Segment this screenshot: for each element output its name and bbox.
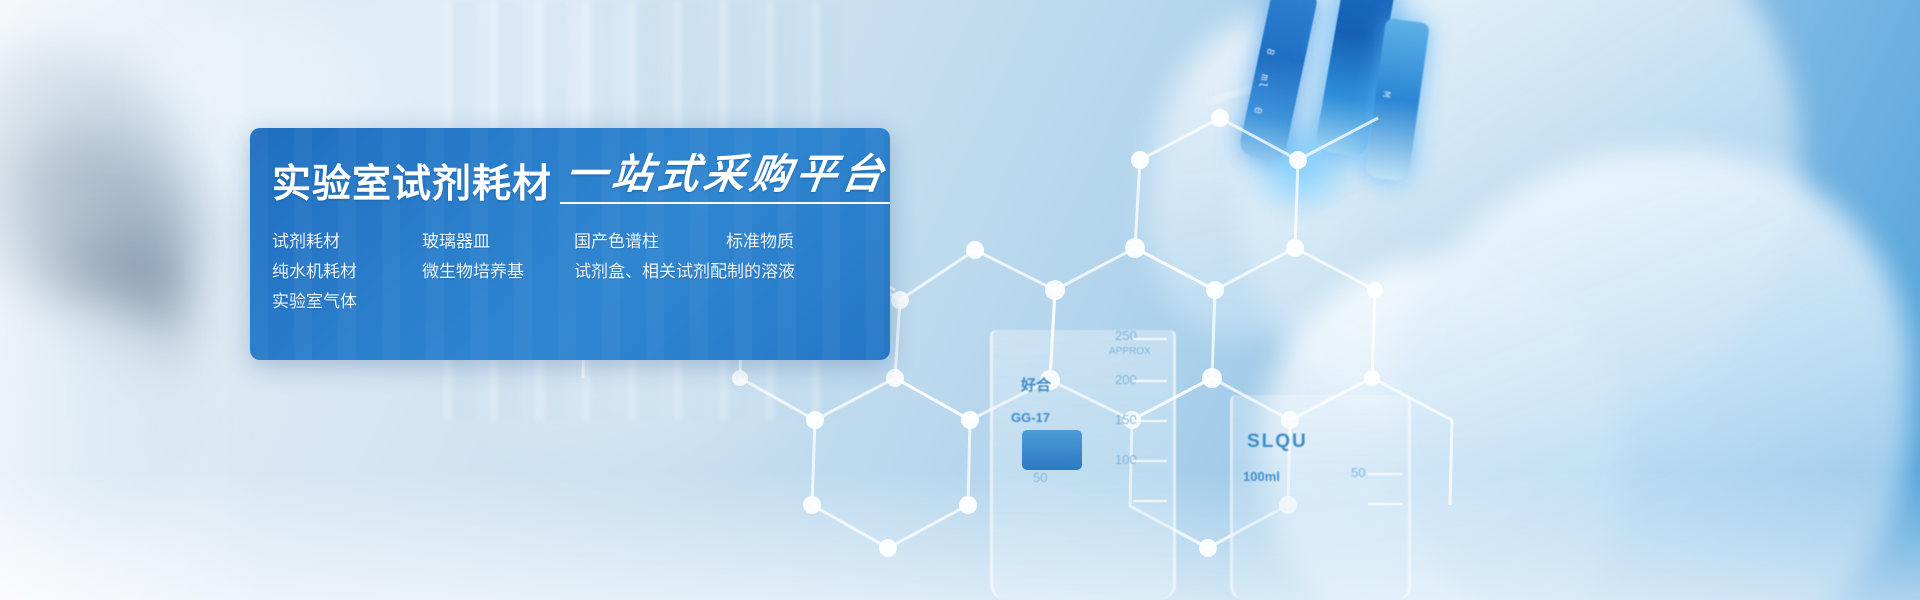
beaker-brand-label: 好合	[1021, 374, 1051, 395]
beaker-code-label: GG-17	[1011, 410, 1050, 425]
category-item-reagent-consumables[interactable]: 试剂耗材	[272, 233, 422, 250]
headline-main-text: 实验室试剂耗材	[272, 165, 552, 204]
headline-panel: 实验室试剂耗材 一站式采购平台 试剂耗材 玻璃器皿 国产色谱柱 标准物质 纯水机…	[250, 128, 890, 360]
category-item-domestic-chromatography-column[interactable]: 国产色谱柱	[574, 233, 726, 250]
category-row: 试剂耗材 玻璃器皿 国产色谱柱 标准物质	[272, 233, 890, 250]
beaker-liquid	[1022, 430, 1082, 470]
category-list: 试剂耗材 玻璃器皿 国产色谱柱 标准物质 纯水机耗材 微生物培养基 试剂盒、相关…	[272, 233, 890, 310]
headline-underline	[560, 202, 890, 204]
category-item-laboratory-gas[interactable]: 实验室气体	[272, 293, 422, 310]
vial-label-zero: 0	[1250, 105, 1263, 115]
vial-label-unit: ml	[1255, 73, 1270, 90]
category-item-glassware[interactable]: 玻璃器皿	[422, 233, 574, 250]
headline-script-text: 一站式采购平台	[563, 154, 890, 195]
laboratory-reagent-banner: 8 ml 0 M	[0, 0, 1920, 600]
category-item-microbial-culture-media[interactable]: 微生物培养基	[422, 263, 574, 280]
headline-script-wrap: 一站式采购平台	[566, 154, 888, 204]
beaker-brand-label: SLQU	[1247, 431, 1308, 453]
headline: 实验室试剂耗材 一站式采购平台	[272, 154, 890, 204]
beaker-graduation-250: 250	[1115, 328, 1137, 343]
category-item-reagent-kits-solutions[interactable]: 试剂盒、相关试剂配制的溶液	[574, 263, 795, 280]
category-item-reference-material[interactable]: 标准物质	[726, 233, 794, 250]
category-row: 实验室气体	[272, 293, 890, 310]
category-row: 纯水机耗材 微生物培养基 试剂盒、相关试剂配制的溶液	[272, 263, 890, 280]
vial-label-m: M	[1379, 90, 1392, 99]
vial-label-volume: 8	[1263, 47, 1276, 57]
bottom-light-haze	[0, 470, 1920, 600]
category-item-water-purifier-consumables[interactable]: 纯水机耗材	[272, 263, 422, 280]
beaker-approx-label: APPROX	[1109, 346, 1151, 357]
